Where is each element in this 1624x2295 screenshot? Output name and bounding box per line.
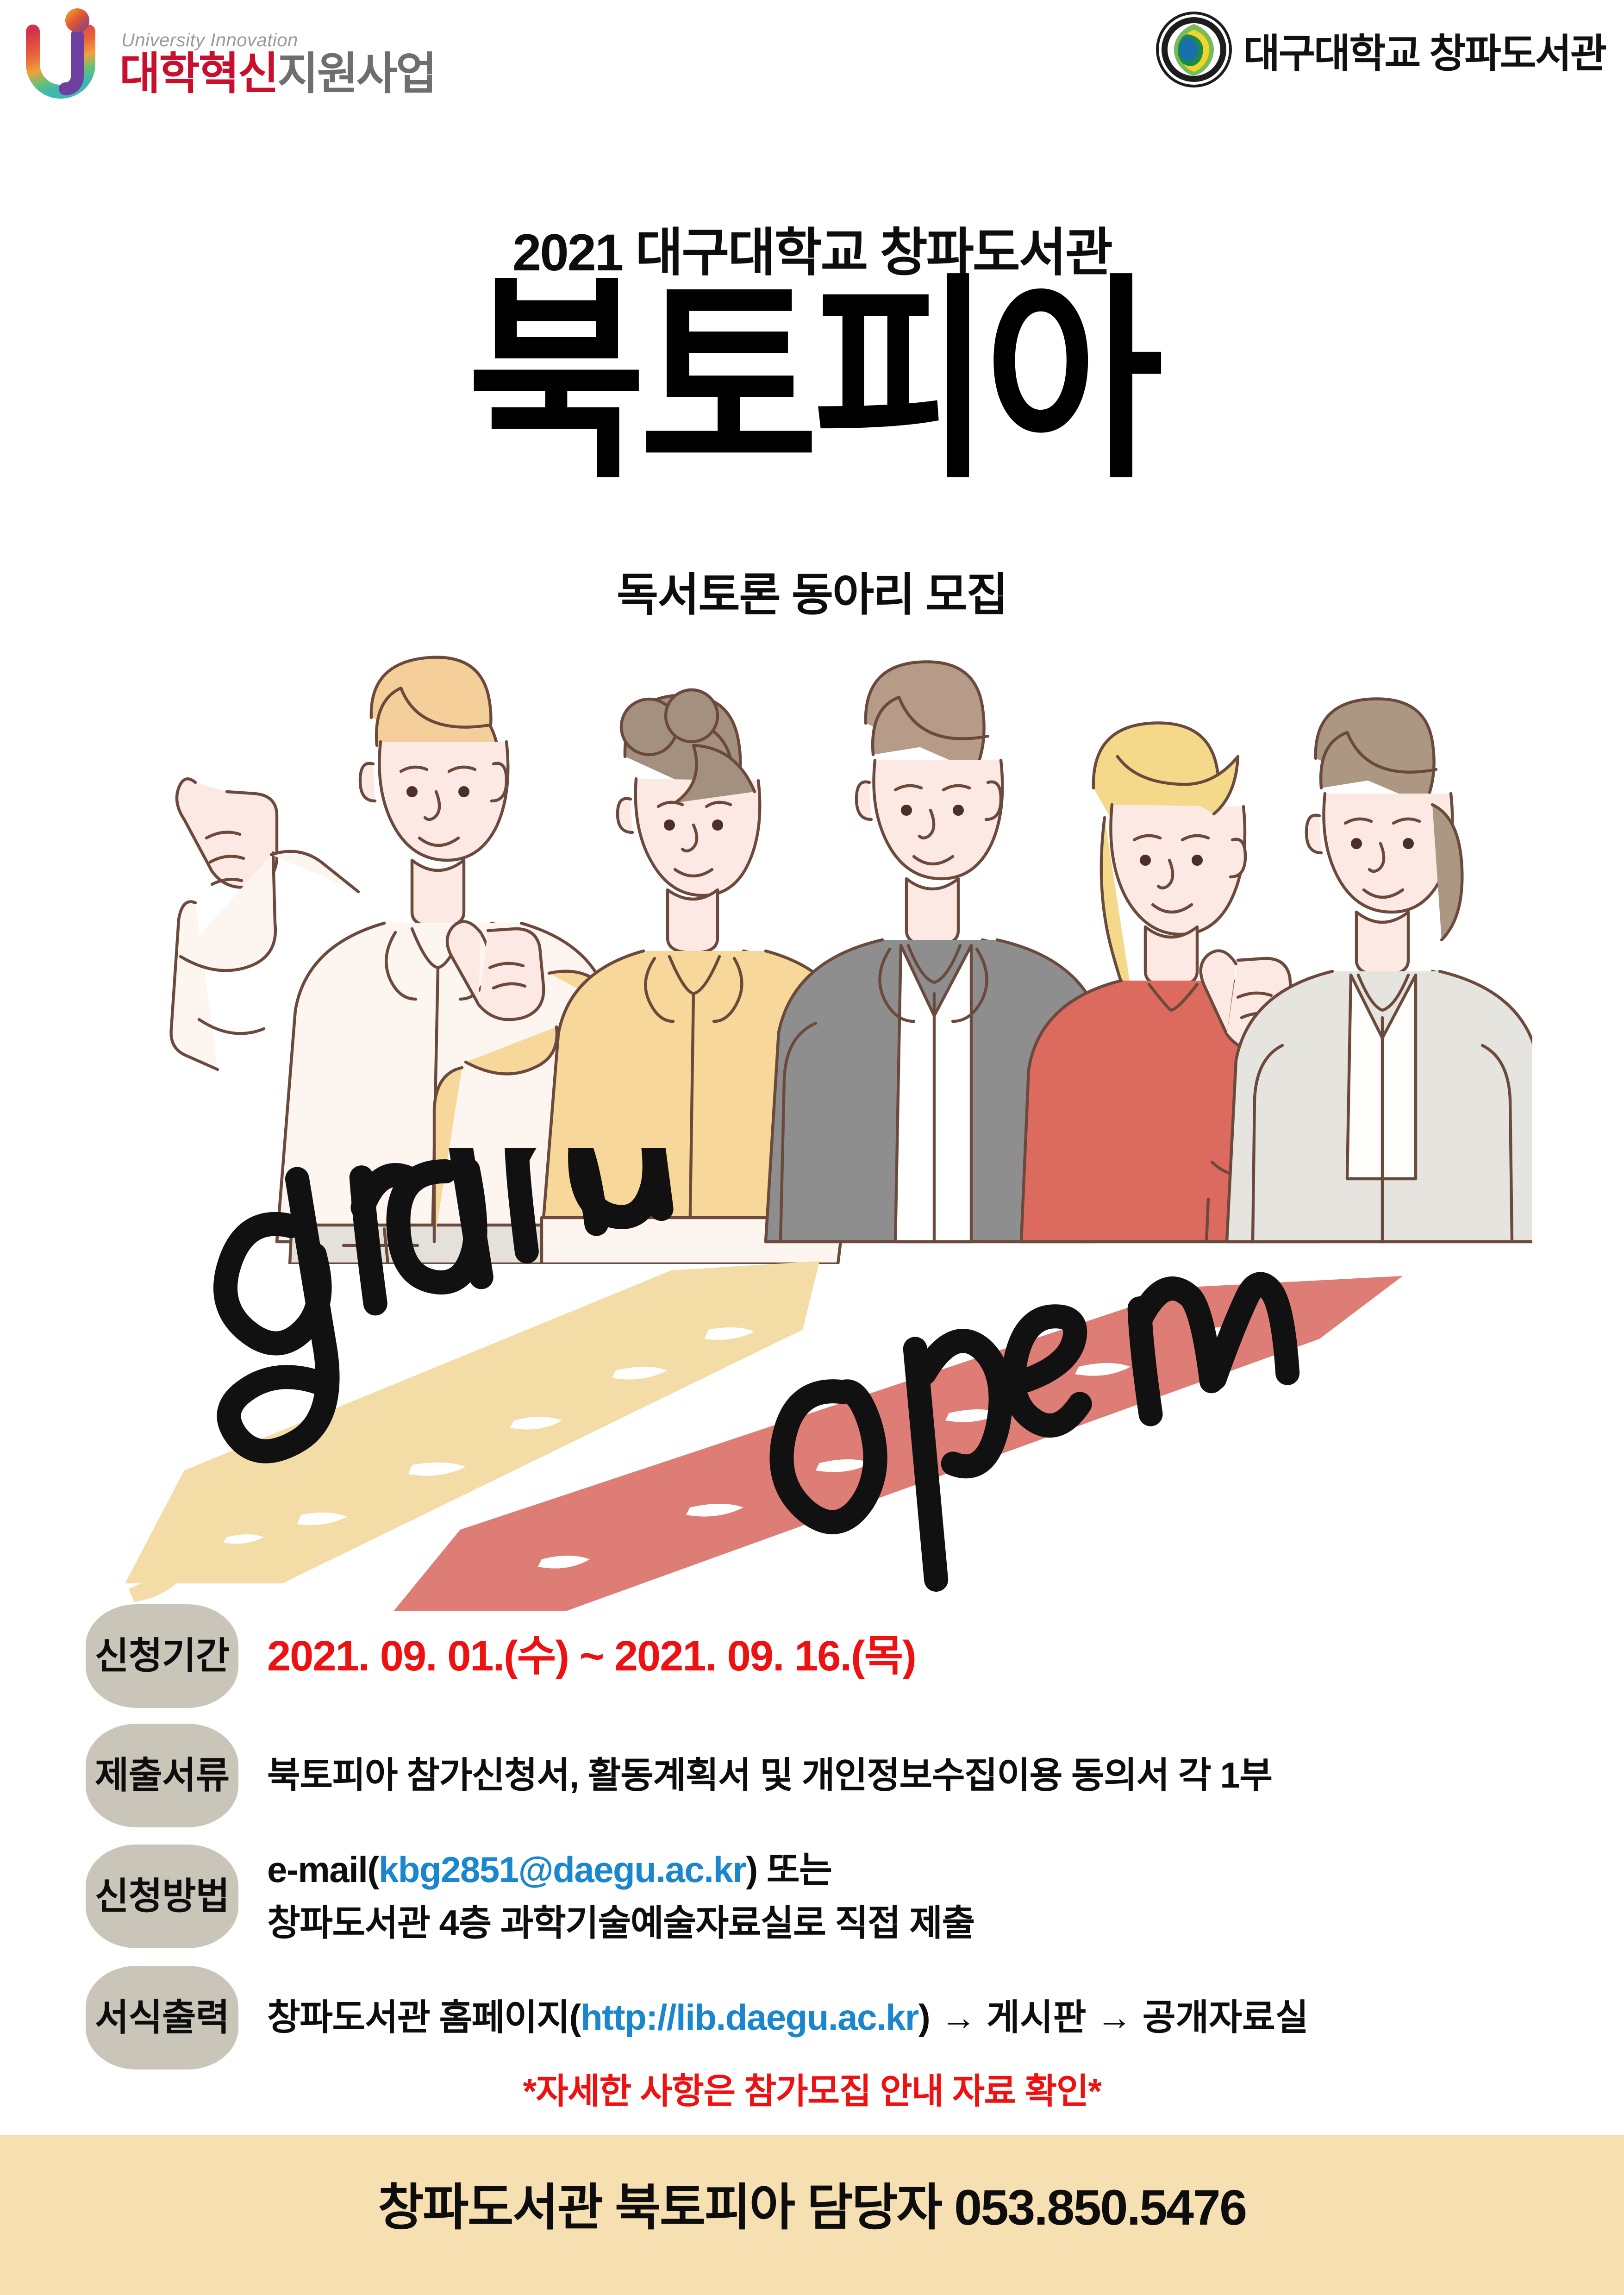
website-link[interactable]: http://lib.daegu.ac.kr [581,1997,918,2038]
info-row-application-method: 신청방법 e-mail(kbg2851@daegu.ac.kr) 또는 창파도서… [86,1843,1558,1950]
info-row-form-download: 서식출력 창파도서관 홈페이지(http://lib.daegu.ac.kr) … [86,1966,1558,2070]
info-segment: e-mail( [267,1849,379,1890]
logo-left-sublabel: University Innovation [121,30,436,51]
info-value-form-download: 창파도서관 홈페이지(http://lib.daegu.ac.kr) → 게시판… [238,1991,1558,2044]
info-line: 2021. 09. 01.(수) ~ 2021. 09. 16.(목) [267,1625,1558,1688]
poster-note: *자세한 사항은 참가모집 안내 자료 확인* [0,2063,1624,2114]
contact-footer: 창파도서관 북토피아 담당자 053.850.5476 [0,2135,1624,2295]
daegu-university-seal-icon [1155,10,1233,89]
info-row-application-period: 신청기간 2021. 09. 01.(수) ~ 2021. 09. 16.(목) [86,1604,1558,1708]
contact-footer-text: 창파도서관 북토피아 담당자 053.850.5476 [378,2167,1246,2239]
info-segment: 창파도서관 4층 과학기술예술자료실로 직접 제출 [267,1902,974,1943]
poster-root: University Innovation 대학혁신지원사업 대구대학교 창파도… [0,0,1624,2295]
grand-open-artwork [116,1148,1532,1620]
info-label-required-documents: 제출서류 [86,1724,238,1827]
daegu-library-wordmark: 대구대학교 창파도서관 [1243,21,1605,79]
poster-title: 북토피아 [0,273,1624,491]
info-label-application-period: 신청기간 [86,1604,238,1708]
info-row-required-documents: 제출서류 북토피아 참가신청서, 활동계획서 및 개인정보수집이용 동의서 각 … [86,1724,1558,1827]
logo-left-mainlabel: 대학혁신지원사업 [119,52,436,96]
info-value-application-period: 2021. 09. 01.(수) ~ 2021. 09. 16.(목) [238,1625,1558,1688]
info-segment: 2021. 09. 01.(수) ~ 2021. 09. 16.(목) [267,1632,916,1680]
info-value-required-documents: 북토피아 참가신청서, 활동계획서 및 개인정보수집이용 동의서 각 1부 [238,1749,1558,1802]
info-line: 창파도서관 4층 과학기술예술자료실로 직접 제출 [267,1896,1558,1950]
info-label-application-method: 신청방법 [86,1845,238,1948]
university-innovation-wordmark: University Innovation 대학혁신지원사업 [119,30,436,96]
info-table: 신청기간 2021. 09. 01.(수) ~ 2021. 09. 16.(목)… [86,1604,1558,2085]
info-segment: ) 또는 [746,1849,831,1890]
logo-left-mainlabel-red: 대학혁신 [119,49,277,99]
info-line: 창파도서관 홈페이지(http://lib.daegu.ac.kr) → 게시판… [267,1991,1558,2044]
info-line: e-mail(kbg2851@daegu.ac.kr) 또는 [267,1843,1558,1896]
logo-left-mainlabel-gray: 지원사업 [277,49,435,99]
ui-mark-icon [25,8,111,101]
info-line: 북토피아 참가신청서, 활동계획서 및 개인정보수집이용 동의서 각 1부 [267,1749,1558,1802]
info-value-application-method: e-mail(kbg2851@daegu.ac.kr) 또는 창파도서관 4층 … [238,1843,1558,1950]
email-link[interactable]: kbg2851@daegu.ac.kr [379,1849,746,1890]
info-segment: 북토피아 참가신청서, 활동계획서 및 개인정보수집이용 동의서 각 1부 [267,1755,1272,1795]
daegu-library-logo: 대구대학교 창파도서관 [1155,10,1605,89]
info-label-form-download: 서식출력 [86,1966,238,2070]
info-segment: ) → 게시판 → 공개자료실 [918,1997,1309,2038]
info-segment: 창파도서관 홈페이지( [267,1997,581,2038]
university-innovation-logo: University Innovation 대학혁신지원사업 [25,8,436,101]
